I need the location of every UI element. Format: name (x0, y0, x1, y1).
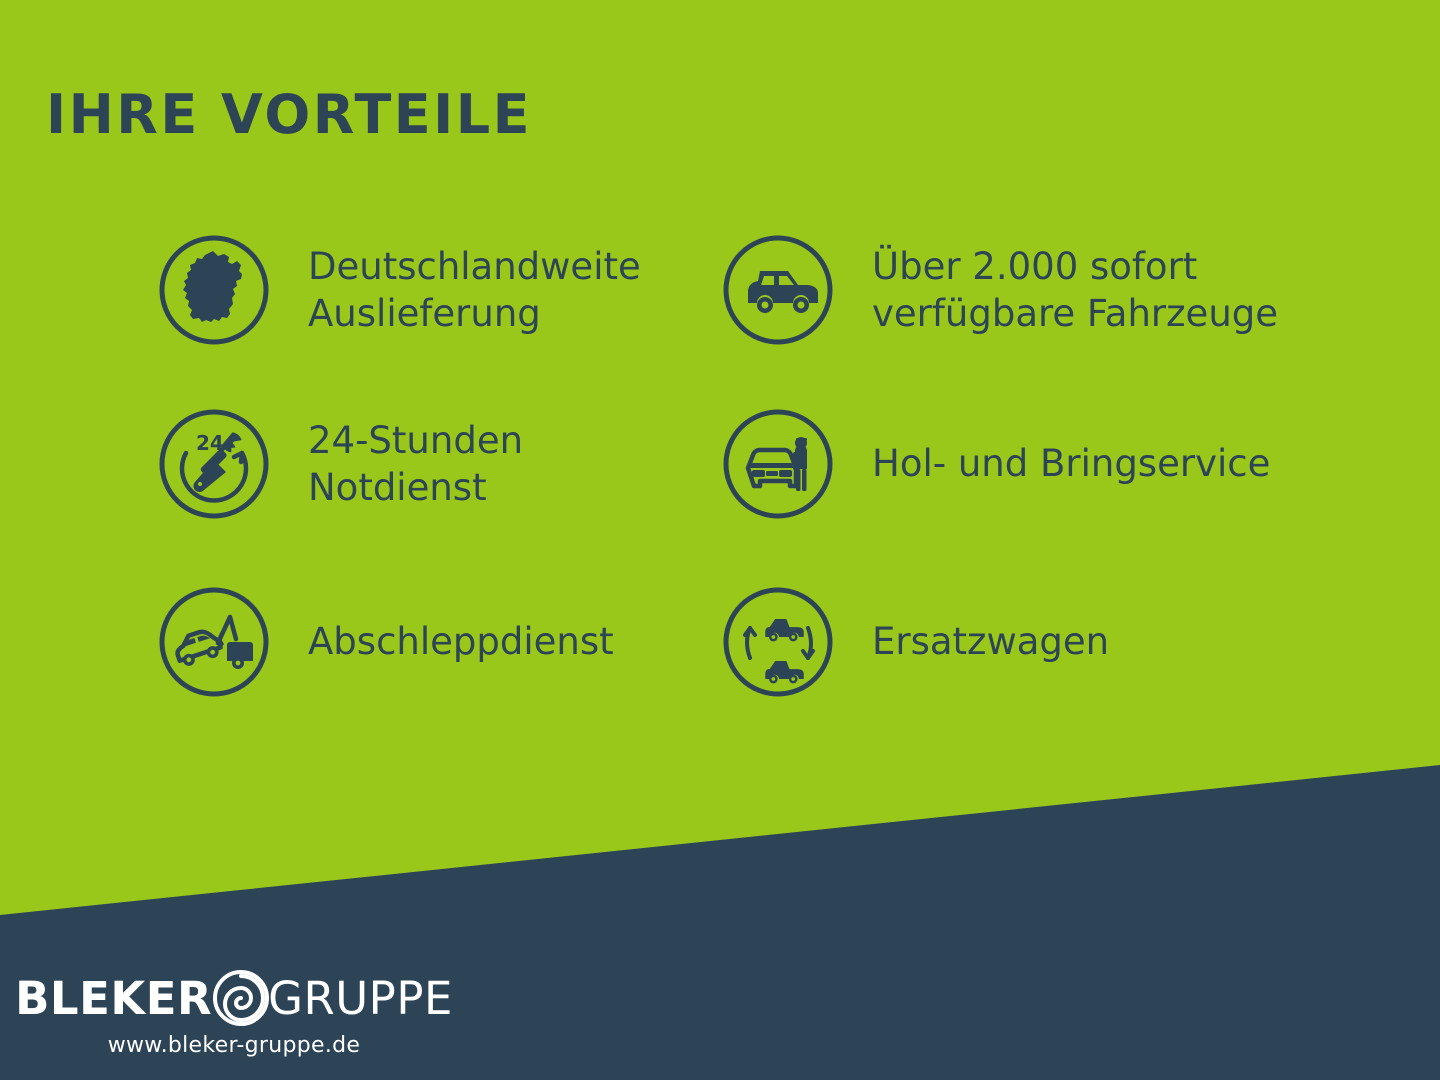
benefit-item-24-stunden-notdienst: 24 24-Stunden Notdienst (158, 408, 523, 520)
slide-canvas: IHRE VORTEILE Deutschlandweite Ausliefer… (0, 0, 1440, 1080)
logo-wordmark: BLEKER GRUPPE (34, 969, 434, 1027)
page-title: IHRE VORTEILE (46, 88, 532, 142)
germany-map-icon (158, 234, 270, 346)
benefit-label: Hol- und Bringservice (872, 440, 1270, 487)
benefit-item-abschleppdienst: Abschleppdienst (158, 586, 614, 698)
two-cars-exchange-icon (722, 586, 834, 698)
brand-name-gruppe: GRUPPE (268, 976, 453, 1021)
benefit-label: Abschleppdienst (308, 618, 614, 665)
benefit-item-hol-und-bringservice: Hol- und Bringservice (722, 408, 1270, 520)
brand-name-bleker: BLEKER (15, 976, 212, 1021)
benefit-label: Über 2.000 sofort verfügbare Fahrzeuge (872, 243, 1278, 338)
clock-wrench-24h-icon: 24 (158, 408, 270, 520)
footer-logo[interactable]: BLEKER GRUPPE www.bleker-gruppe.de (34, 969, 434, 1058)
tow-truck-icon (158, 586, 270, 698)
benefit-item-verfuegbare-fahrzeuge: Über 2.000 sofort verfügbare Fahrzeuge (722, 234, 1278, 346)
benefit-label: 24-Stunden Notdienst (308, 417, 523, 512)
spiral-circle-logo-icon (210, 967, 272, 1029)
car-with-driver-icon (722, 408, 834, 520)
website-url[interactable]: www.bleker-gruppe.de (34, 1033, 434, 1058)
car-side-icon (722, 234, 834, 346)
benefit-item-deutschlandweite-auslieferung: Deutschlandweite Auslieferung (158, 234, 641, 346)
benefit-label: Ersatzwagen (872, 618, 1109, 665)
benefit-item-ersatzwagen: Ersatzwagen (722, 586, 1109, 698)
benefit-label: Deutschlandweite Auslieferung (308, 243, 641, 338)
